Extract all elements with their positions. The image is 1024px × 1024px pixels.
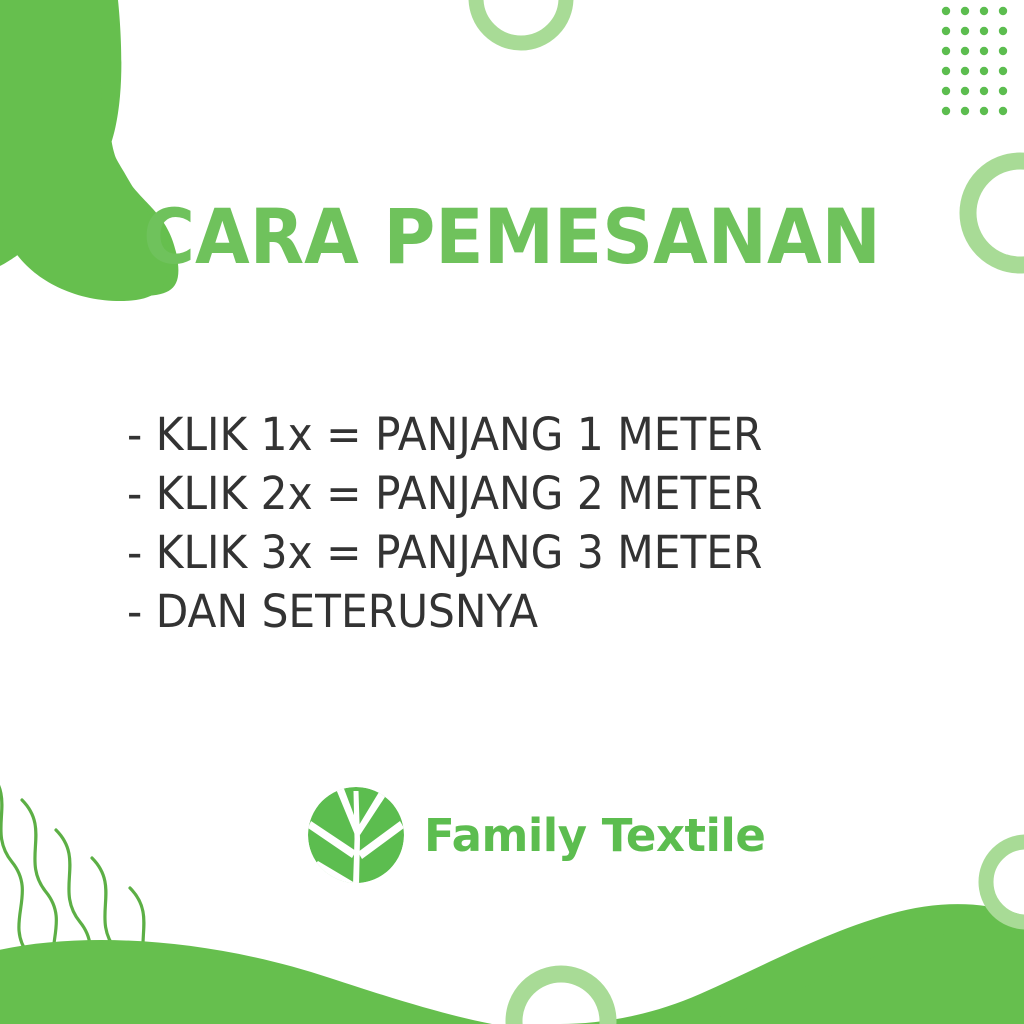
page-title: CARA PEMESANAN (36, 199, 988, 275)
brand-logo: Family Textile (306, 784, 726, 886)
brand-name: Family Textile (424, 813, 765, 858)
order-step-item: - KLIK 2x = PANJANG 2 METER (127, 464, 879, 523)
leaf-circle-icon (306, 785, 406, 885)
order-step-item: - KLIK 3x = PANJANG 3 METER (127, 523, 879, 582)
order-step-item: - DAN SETERUSNYA (127, 582, 879, 641)
order-steps-list: - KLIK 1x = PANJANG 1 METER - KLIK 2x = … (127, 405, 927, 641)
content-layer: CARA PEMESANAN - KLIK 1x = PANJANG 1 MET… (0, 0, 1024, 1024)
order-step-item: - KLIK 1x = PANJANG 1 METER (127, 405, 879, 464)
poster-canvas: CARA PEMESANAN - KLIK 1x = PANJANG 1 MET… (0, 0, 1024, 1024)
